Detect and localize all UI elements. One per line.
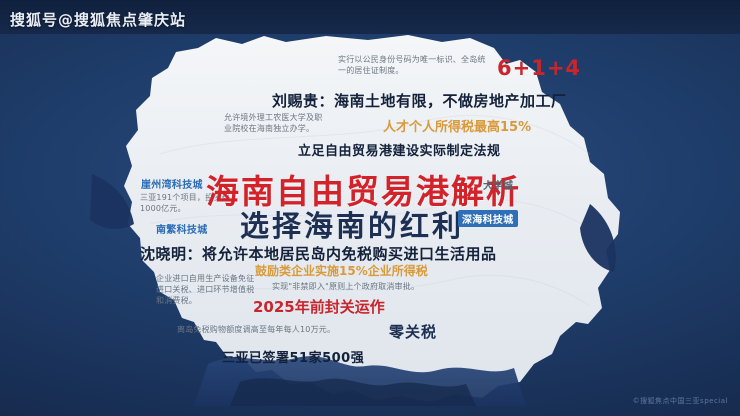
callout-liu-cigui: 刘赐贵：海南土地有限，不做房地产加工厂 <box>272 90 567 111</box>
callout-enterprise-tax: 鼓励类企业实施15%企业所得税 <box>255 262 428 279</box>
callout-sanya-500: 三亚已签署51家500强 <box>222 347 364 366</box>
callout-no-ban-entry: 实现"非禁即入"原则上个政府取消审批。 <box>272 281 472 292</box>
callout-seal-2025: 2025年前封关运作 <box>253 296 385 317</box>
callout-overseas-schools: 允许境外理工农医大学及职业院校在海南独立办学。 <box>224 112 324 134</box>
callout-free-trade-law: 立足自由贸易港建设实际制定法规 <box>298 140 501 159</box>
callout-university-town: 大学城 <box>483 177 513 192</box>
callout-deep-sea-tech-city: 深海科技城 <box>458 210 518 227</box>
callout-yazhouwan-tech-city: 崖州湾科技城 <box>141 176 203 191</box>
callout-shen-xiaoming: 沈晓明：将允许本地居民岛内免税购买进口生活用品 <box>140 243 497 264</box>
source-credit-label: ©搜狐焦点中国三亚special <box>633 396 728 406</box>
callout-residence-permit: 实行以公民身份号码为唯一标识、全岛统一的居住证制度。 <box>338 54 488 76</box>
callout-talent-tax: 人才个人所得税最高15% <box>383 116 531 135</box>
callout-nanfan-tech-city: 南繁科技城 <box>156 221 208 236</box>
callout-import-equipment: 企业进口自用生产设备免征进口关税、进口环节增值税和消费税。 <box>156 273 260 306</box>
page-title-sub: 选择海南的红利 <box>240 203 464 245</box>
screenshot-root: 搜狐号@搜狐焦点肇庆站 <box>0 0 740 416</box>
watermark-label: 搜狐号@搜狐焦点肇庆站 <box>10 9 186 30</box>
callout-zero-tariff: 零关税 <box>389 321 437 342</box>
callout-duty-free-quota: 离岛免税购物额度调高至每年每人10万元。 <box>177 324 367 335</box>
callout-6-1-4: 6+1+4 <box>497 56 581 80</box>
